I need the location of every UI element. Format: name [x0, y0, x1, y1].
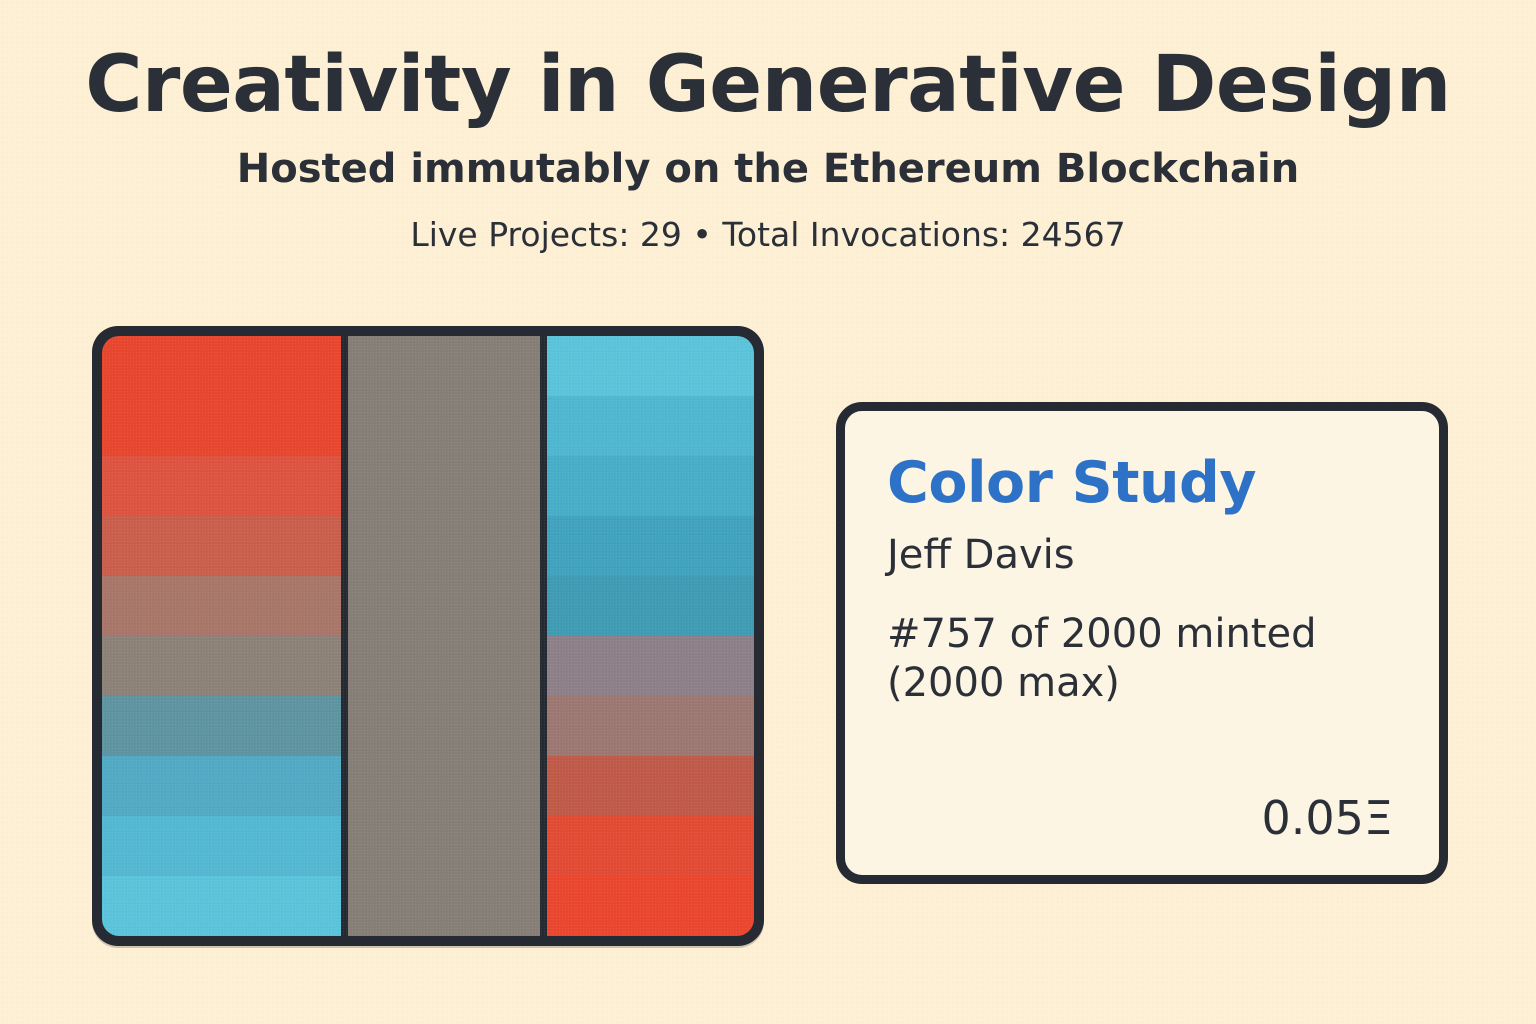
artwork-title: Color Study: [887, 455, 1397, 512]
art-band: [547, 636, 754, 696]
art-column-right: [547, 336, 754, 936]
art-band: [102, 576, 341, 636]
mint-info: #757 of 2000 minted (2000 max): [887, 576, 1357, 708]
art-band: [348, 576, 540, 636]
gallery-stage: Creativity in Generative Design Hosted i…: [0, 0, 1536, 1024]
page-subtitle: Hosted immutably on the Ethereum Blockch…: [0, 126, 1536, 190]
price-label: 0.05Ξ: [887, 795, 1397, 845]
art-band: [102, 456, 341, 516]
art-band: [547, 336, 754, 396]
art-band: [547, 696, 754, 756]
art-band: [547, 576, 754, 636]
art-band: [348, 816, 540, 876]
art-band: [348, 876, 540, 936]
art-band: [102, 876, 341, 936]
art-band: [102, 516, 341, 576]
page-header: Creativity in Generative Design Hosted i…: [0, 0, 1536, 252]
art-band: [348, 516, 540, 576]
art-band: [348, 756, 540, 816]
art-column-left: [102, 336, 341, 936]
art-column-middle: [348, 336, 540, 936]
art-band: [348, 336, 540, 396]
art-band: [102, 336, 341, 396]
artist-name: Jeff Davis: [887, 512, 1397, 576]
art-band: [547, 876, 754, 936]
art-band: [348, 396, 540, 456]
art-band: [102, 816, 341, 876]
art-band: [348, 456, 540, 516]
platform-stats: Live Projects: 29 • Total Invocations: 2…: [0, 190, 1536, 253]
art-band: [547, 756, 754, 816]
art-band: [547, 816, 754, 876]
art-band: [102, 756, 341, 816]
artwork-frame[interactable]: [92, 326, 764, 946]
artwork-canvas[interactable]: [102, 336, 754, 936]
art-band: [102, 396, 341, 456]
art-band: [102, 636, 341, 696]
art-band: [348, 636, 540, 696]
art-band: [547, 516, 754, 576]
art-band: [102, 696, 341, 756]
artwork-info-card[interactable]: Color Study Jeff Davis #757 of 2000 mint…: [836, 402, 1448, 884]
art-band: [348, 696, 540, 756]
art-band: [547, 456, 754, 516]
page-title: Creativity in Generative Design: [0, 0, 1536, 126]
art-band: [547, 396, 754, 456]
